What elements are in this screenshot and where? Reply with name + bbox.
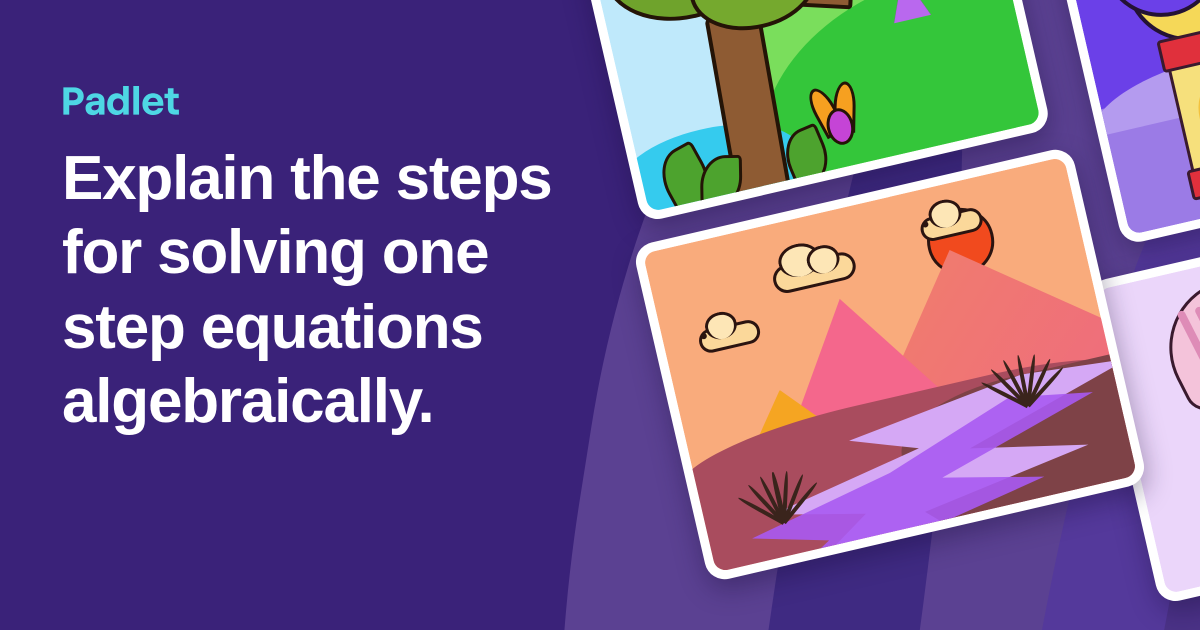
text-block: Explain the steps for solving one step e… [62,86,582,440]
page-title: Explain the steps for solving one step e… [62,142,582,440]
padlet-logo-icon[interactable] [62,86,205,116]
share-card-canvas: Explain the steps for solving one step e… [0,0,1200,630]
lantern-flame-shape [1193,81,1200,148]
